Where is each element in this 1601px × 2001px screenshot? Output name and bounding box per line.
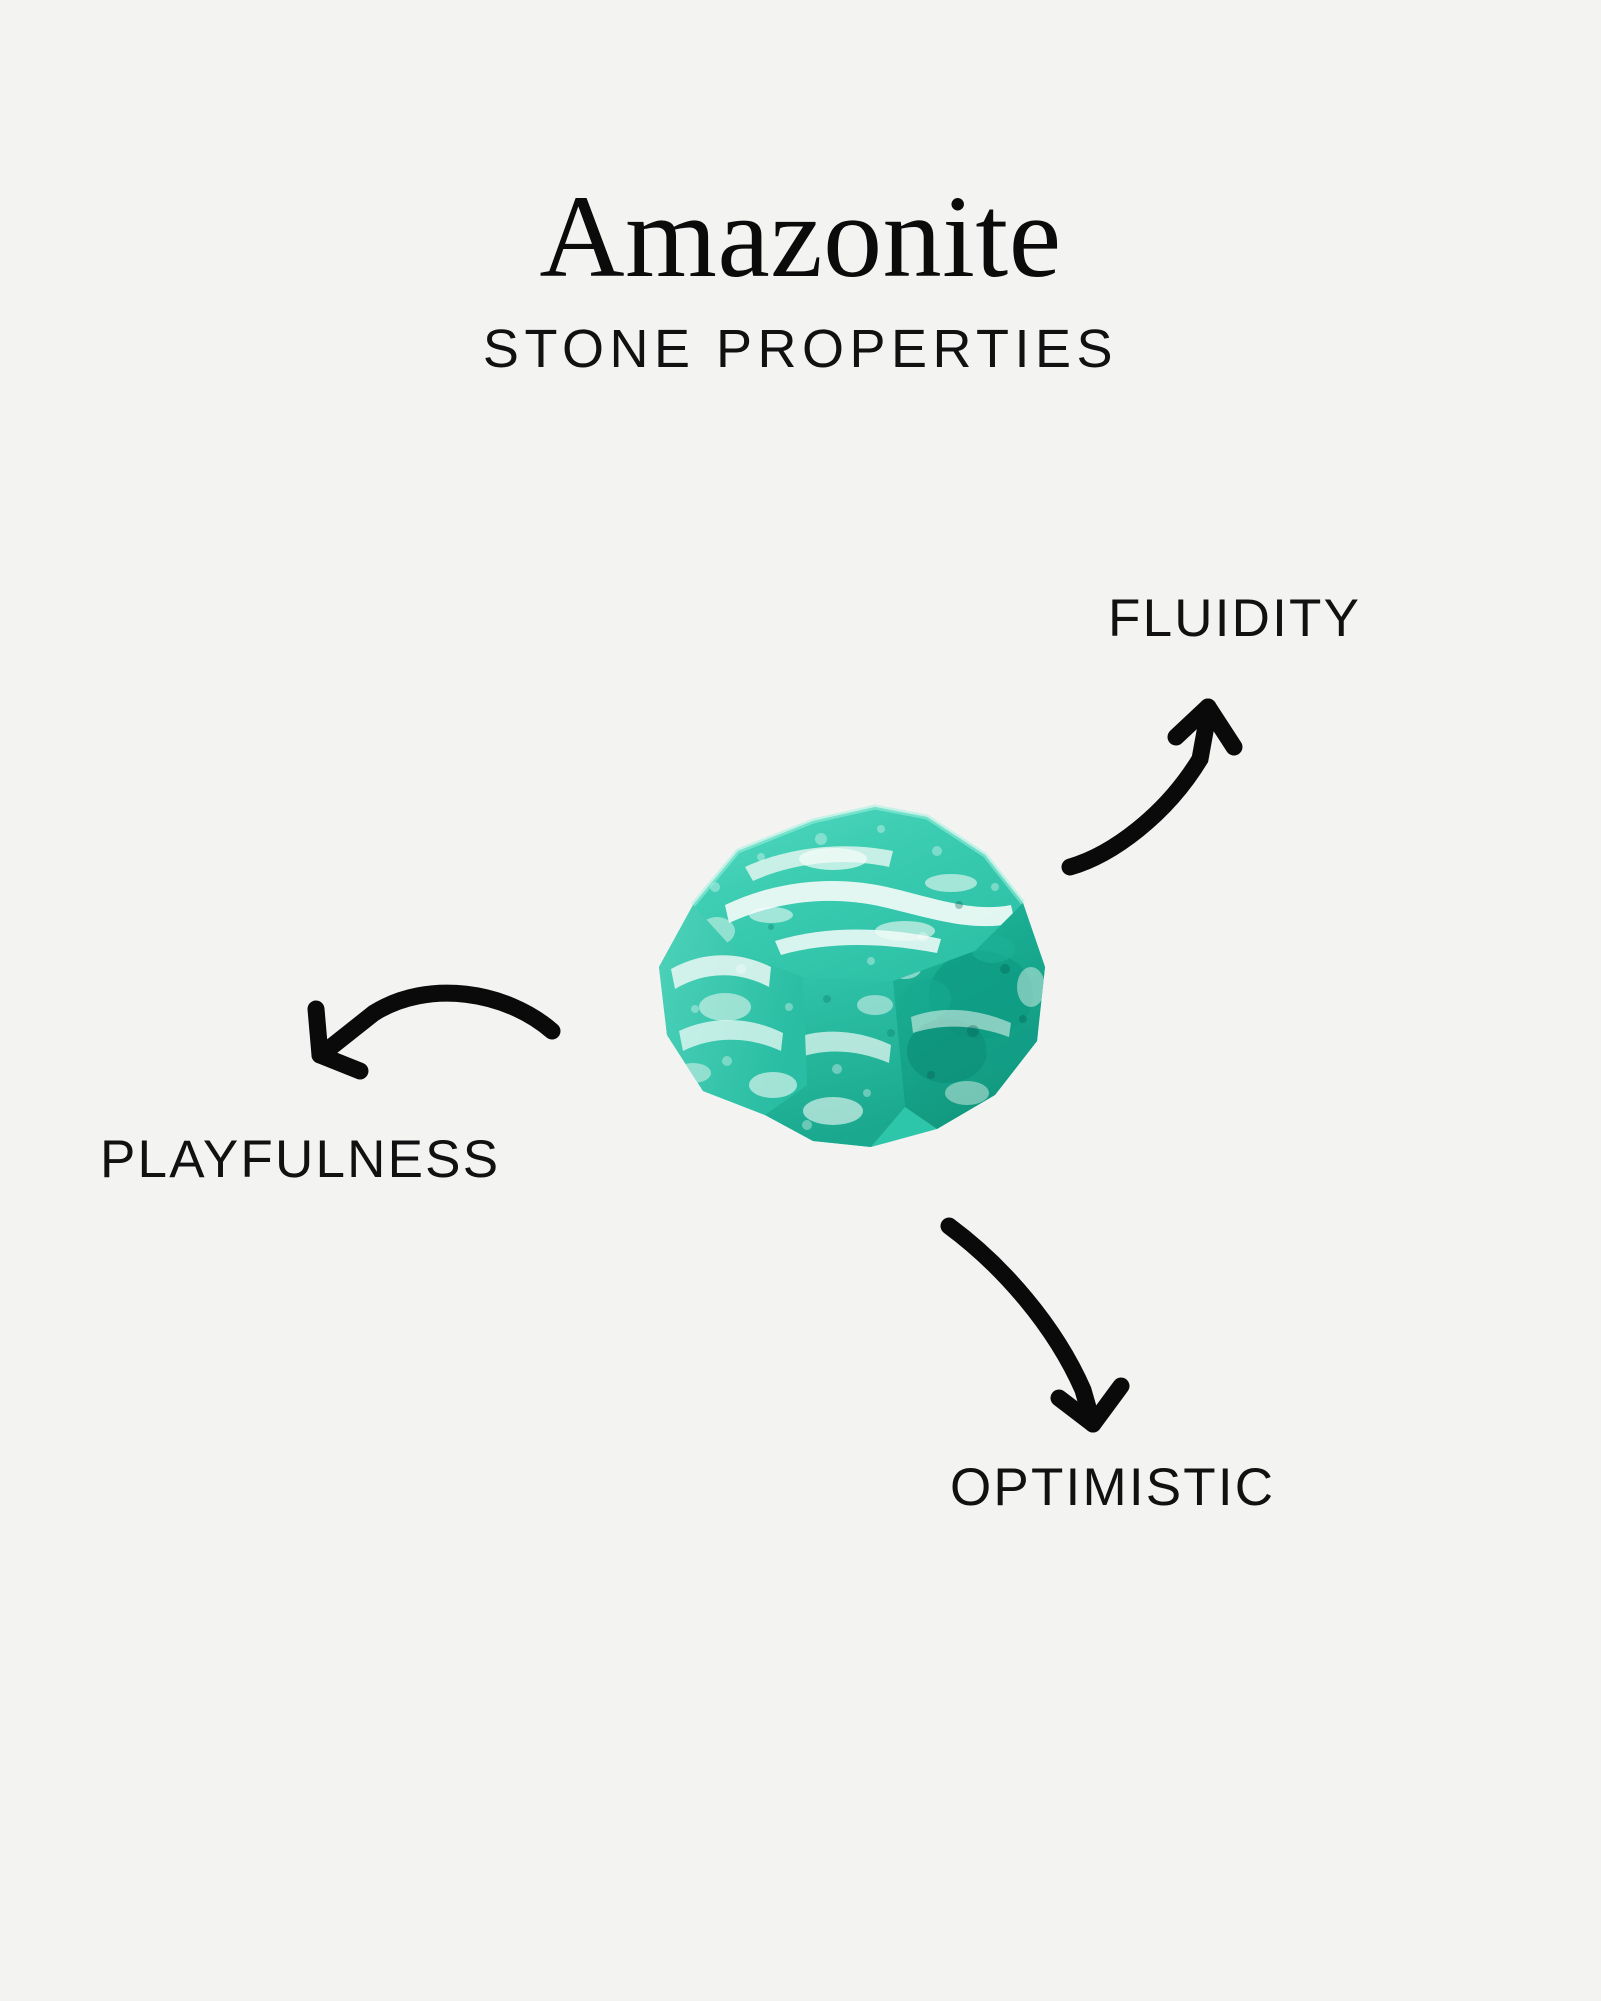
stone-image-container (575, 755, 1095, 1175)
property-label-fluidity: FLUIDITY (1108, 592, 1361, 645)
poster-canvas: Amazonite STONE PROPERTIES (0, 0, 1601, 2001)
arrow-to-fluidity (1050, 655, 1300, 885)
amazonite-stone-icon (575, 755, 1095, 1175)
poster-header: Amazonite STONE PROPERTIES (0, 0, 1601, 376)
page-subtitle: STONE PROPERTIES (0, 296, 1601, 376)
property-label-optimistic: OPTIMISTIC (950, 1461, 1275, 1514)
page-title: Amazonite (0, 0, 1601, 296)
stone-body (659, 807, 1045, 1147)
arrow-to-optimistic (925, 1200, 1175, 1440)
property-label-playfulness: PLAYFULNESS (100, 1133, 500, 1186)
arrow-to-playfulness (270, 955, 570, 1115)
